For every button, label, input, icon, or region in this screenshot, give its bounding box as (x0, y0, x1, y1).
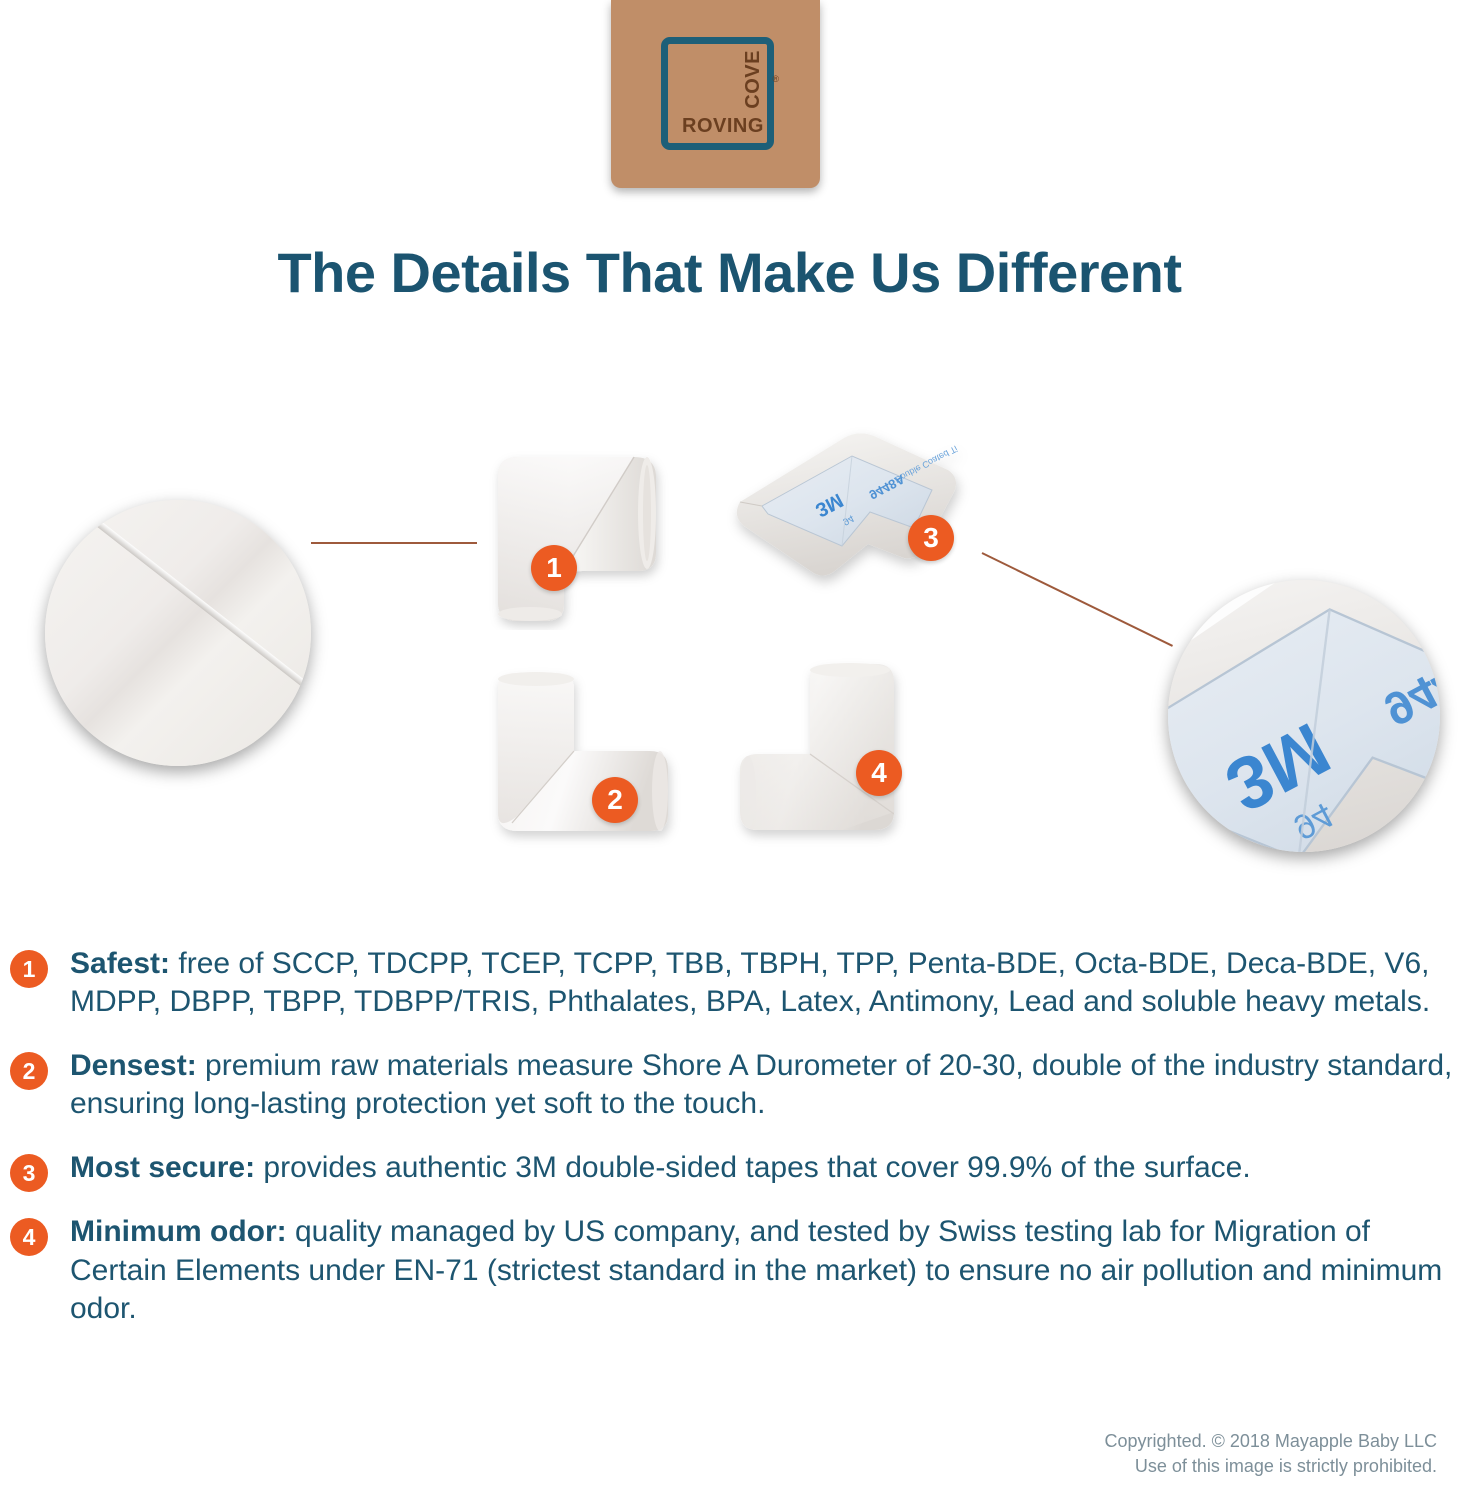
feature-number-4: 4 (10, 1218, 48, 1256)
corner-guard-1-shape (484, 445, 674, 630)
product-illustration-stage: 1 (0, 400, 1459, 900)
connector-line-right (982, 552, 1173, 647)
corner-guard-2-shape (482, 665, 682, 850)
feature-body-1: free of SCCP, TDCPP, TCEP, TCPP, TBB, TB… (70, 947, 1430, 1018)
corner-guard-2: 2 (482, 665, 682, 850)
feature-body-3: provides authentic 3M double-sided tapes… (255, 1151, 1251, 1184)
badge-2: 2 (592, 777, 638, 823)
feature-lead-1: Safest: (70, 947, 170, 980)
logo-roving-text: ROVING (682, 116, 764, 136)
feature-text-3: Most secure: provides authentic 3M doubl… (70, 1149, 1459, 1187)
feature-lead-2: Densest: (70, 1049, 197, 1082)
inset-foam-surface-closeup (45, 500, 311, 766)
logo-frame: COVE ® ROVING (661, 37, 774, 150)
badge-4: 4 (856, 750, 902, 796)
registered-trademark-icon: ® (772, 74, 779, 84)
copyright-line-1: Copyrighted. © 2018 Mayapple Baby LLC (1105, 1429, 1437, 1453)
page-title: The Details That Make Us Different (0, 240, 1459, 305)
corner-guard-1: 1 (484, 445, 674, 630)
tape-closeup-shape: 3M 9448A Double Coated Ti 94 (1168, 580, 1440, 852)
copyright-line-2: Use of this image is strictly prohibited… (1105, 1454, 1437, 1478)
feature-item-3: 3 Most secure: provides authentic 3M dou… (0, 1149, 1459, 1187)
badge-1: 1 (531, 545, 577, 591)
inset-tape-coverage-closeup: 3M 9448A Double Coated Ti 94 (1168, 580, 1440, 852)
feature-number-2: 2 (10, 1052, 48, 1090)
infographic-page: COVE ® ROVING The Details That Make Us D… (0, 0, 1459, 1500)
brand-logo-tile: COVE ® ROVING (611, 0, 820, 188)
feature-number-1: 1 (10, 950, 48, 988)
logo-cove-text: COVE (743, 50, 763, 109)
tape-closeup-content: 3M 9448A Double Coated Ti 94 (1168, 580, 1440, 852)
feature-item-4: 4 Minimum odor: quality managed by US co… (0, 1213, 1459, 1327)
copyright-footer: Copyrighted. © 2018 Mayapple Baby LLC Us… (1105, 1429, 1437, 1478)
feature-lead-3: Most secure: (70, 1151, 255, 1184)
feature-text-1: Safest: free of SCCP, TDCPP, TCEP, TCPP,… (70, 945, 1459, 1021)
feature-lead-4: Minimum odor: (70, 1215, 287, 1248)
corner-guard-3: 3M 9448A Double Coated Ti 94 3 (718, 420, 980, 605)
feature-item-1: 1 Safest: free of SCCP, TDCPP, TCEP, TCP… (0, 945, 1459, 1021)
corner-guard-4: 4 (722, 658, 922, 850)
badge-3: 3 (908, 515, 954, 561)
connector-line-left (311, 542, 477, 544)
feature-number-3: 3 (10, 1154, 48, 1192)
foam-texture (45, 500, 311, 766)
feature-list: 1 Safest: free of SCCP, TDCPP, TCEP, TCP… (0, 945, 1459, 1354)
feature-text-4: Minimum odor: quality managed by US comp… (70, 1213, 1459, 1327)
feature-item-2: 2 Densest: premium raw materials measure… (0, 1047, 1459, 1123)
feature-text-2: Densest: premium raw materials measure S… (70, 1047, 1459, 1123)
feature-body-2: premium raw materials measure Shore A Du… (70, 1049, 1452, 1120)
corner-guard-3-shape: 3M 9448A Double Coated Ti 94 (718, 420, 980, 605)
